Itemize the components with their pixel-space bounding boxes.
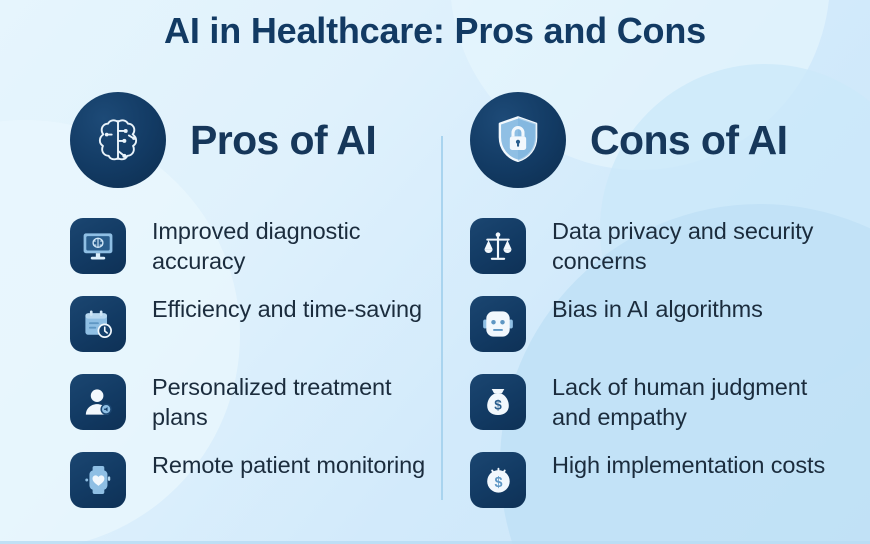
- column-header-cons: Cons of AI: [470, 88, 850, 192]
- pros-list: Improved diagnostic accuracy: [70, 216, 450, 528]
- list-item-label: Efficiency and time-saving: [152, 294, 422, 324]
- column-heading-label: Pros of AI: [190, 117, 376, 164]
- column-cons: Cons of AI Data privacy and s: [470, 88, 850, 528]
- list-item[interactable]: Remote patient monitoring: [70, 450, 450, 528]
- column-heading-label: Cons of AI: [590, 117, 787, 164]
- svg-text:$: $: [494, 398, 502, 413]
- list-item[interactable]: $ Lack of human judgment and empathy: [470, 372, 850, 450]
- list-item-label: Bias in AI algorithms: [552, 294, 763, 324]
- shield-lock-icon: [470, 92, 566, 188]
- list-item[interactable]: Personalized treatment plans: [70, 372, 450, 450]
- list-item[interactable]: Efficiency and time-saving: [70, 294, 450, 372]
- svg-text:$: $: [494, 475, 502, 491]
- list-item-label: Improved diagnostic accuracy: [152, 216, 450, 276]
- list-item-label: High implementation costs: [552, 450, 825, 480]
- list-item-label: Lack of human judgment and empathy: [552, 372, 850, 432]
- list-item[interactable]: Data privacy and security concerns: [470, 216, 850, 294]
- person-profile-icon: [70, 374, 126, 430]
- brain-circuit-icon: [70, 92, 166, 188]
- smartwatch-heart-icon: [70, 452, 126, 508]
- list-item[interactable]: Bias in AI algorithms: [470, 294, 850, 372]
- column-pros: Pros of AI Improved diagnostic accuracy: [70, 88, 450, 528]
- infographic-poster: AI in Healthcare: Pros and Cons: [0, 0, 870, 544]
- list-item-label: Remote patient monitoring: [152, 450, 425, 480]
- robot-head-icon: [470, 296, 526, 352]
- money-bag-icon: $: [470, 374, 526, 430]
- list-item[interactable]: $ High implementation costs: [470, 450, 850, 528]
- list-item-label: Data privacy and security concerns: [552, 216, 850, 276]
- cons-list: Data privacy and security concerns Bias …: [470, 216, 850, 528]
- list-item-label: Personalized treatment plans: [152, 372, 450, 432]
- scales-justice-icon: [470, 218, 526, 274]
- calendar-clock-icon: [70, 296, 126, 352]
- page-title: AI in Healthcare: Pros and Cons: [0, 10, 870, 52]
- column-header-pros: Pros of AI: [70, 88, 450, 192]
- dollar-coin-icon: $: [470, 452, 526, 508]
- monitor-brain-icon: [70, 218, 126, 274]
- list-item[interactable]: Improved diagnostic accuracy: [70, 216, 450, 294]
